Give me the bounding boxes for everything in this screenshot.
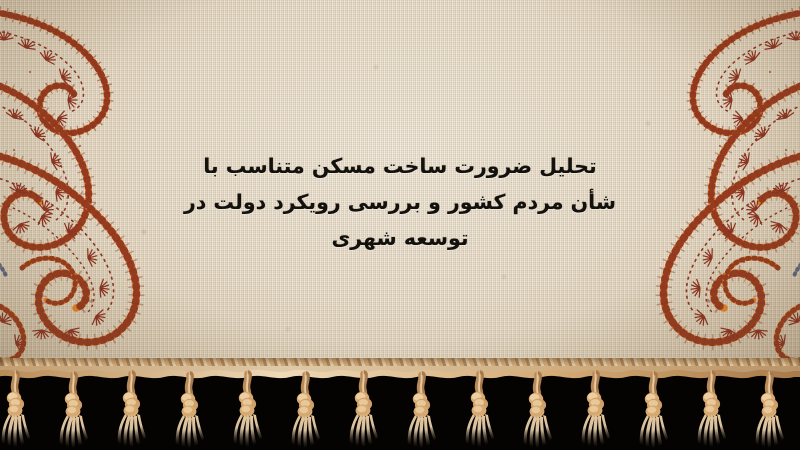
page-title: تحلیل ضرورت ساخت مسکن متناسب با شأن مردم… [160, 148, 640, 256]
textile-banner: تحلیل ضرورت ساخت مسکن متناسب با شأن مردم… [0, 0, 800, 450]
knotted-tassel-fringe [0, 366, 800, 450]
